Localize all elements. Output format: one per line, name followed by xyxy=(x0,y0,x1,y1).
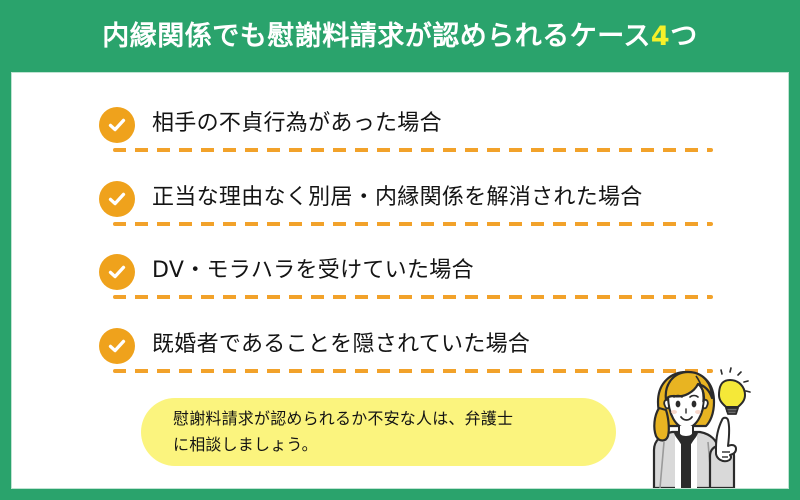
list-item-label: 相手の不貞行為があった場合 xyxy=(152,105,442,143)
dashed-divider xyxy=(113,369,713,373)
page-title: 内縁関係でも慰謝料請求が認められるケース4つ xyxy=(102,23,697,50)
list-item-label: 既婚者であることを隠されていた場合 xyxy=(152,326,530,364)
page-title-prefix: 内縁関係でも慰謝料請求が認められるケース xyxy=(102,21,651,52)
header-band: 内縁関係でも慰謝料請求が認められるケース4つ xyxy=(0,0,800,72)
content-card: 相手の不貞行為があった場合 正当な理由なく別居・内縁関係を解消された場合 xyxy=(11,72,789,489)
advice-callout-line1: 慰謝料請求が認められるか不安な人は、弁護士 xyxy=(173,409,513,428)
page-title-highlight-number: 4 xyxy=(651,21,670,52)
list-item: DV・モラハラを受けていた場合 xyxy=(99,250,713,312)
advice-callout-line2: に相談しましょう。 xyxy=(173,435,318,454)
list-item: 相手の不貞行為があった場合 xyxy=(99,103,713,165)
dashed-divider xyxy=(113,222,713,226)
dashed-divider xyxy=(113,295,713,299)
infographic-poster: 内縁関係でも慰謝料請求が認められるケース4つ 相手の不貞行為があった場合 xyxy=(0,0,800,500)
advice-callout: 慰謝料請求が認められるか不安な人は、弁護士に相談しましょう。 xyxy=(141,398,616,466)
page-title-suffix: つ xyxy=(670,21,698,52)
check-circle-icon xyxy=(99,328,135,364)
dashed-divider xyxy=(113,148,713,152)
check-circle-icon xyxy=(99,107,135,143)
list-item: 既婚者であることを隠されていた場合 xyxy=(99,324,713,386)
advice-callout-text: 慰謝料請求が認められるか不安な人は、弁護士に相談しましょう。 xyxy=(141,406,535,458)
lightbulb-icon xyxy=(719,380,745,414)
check-circle-icon xyxy=(99,254,135,290)
woman-pointing-with-lightbulb-illustration xyxy=(626,366,766,488)
list-item-label: 正当な理由なく別居・内縁関係を解消された場合 xyxy=(152,179,643,217)
check-circle-icon xyxy=(99,181,135,217)
list-item: 正当な理由なく別居・内縁関係を解消された場合 xyxy=(99,177,713,239)
list-item-label: DV・モラハラを受けていた場合 xyxy=(152,252,474,290)
